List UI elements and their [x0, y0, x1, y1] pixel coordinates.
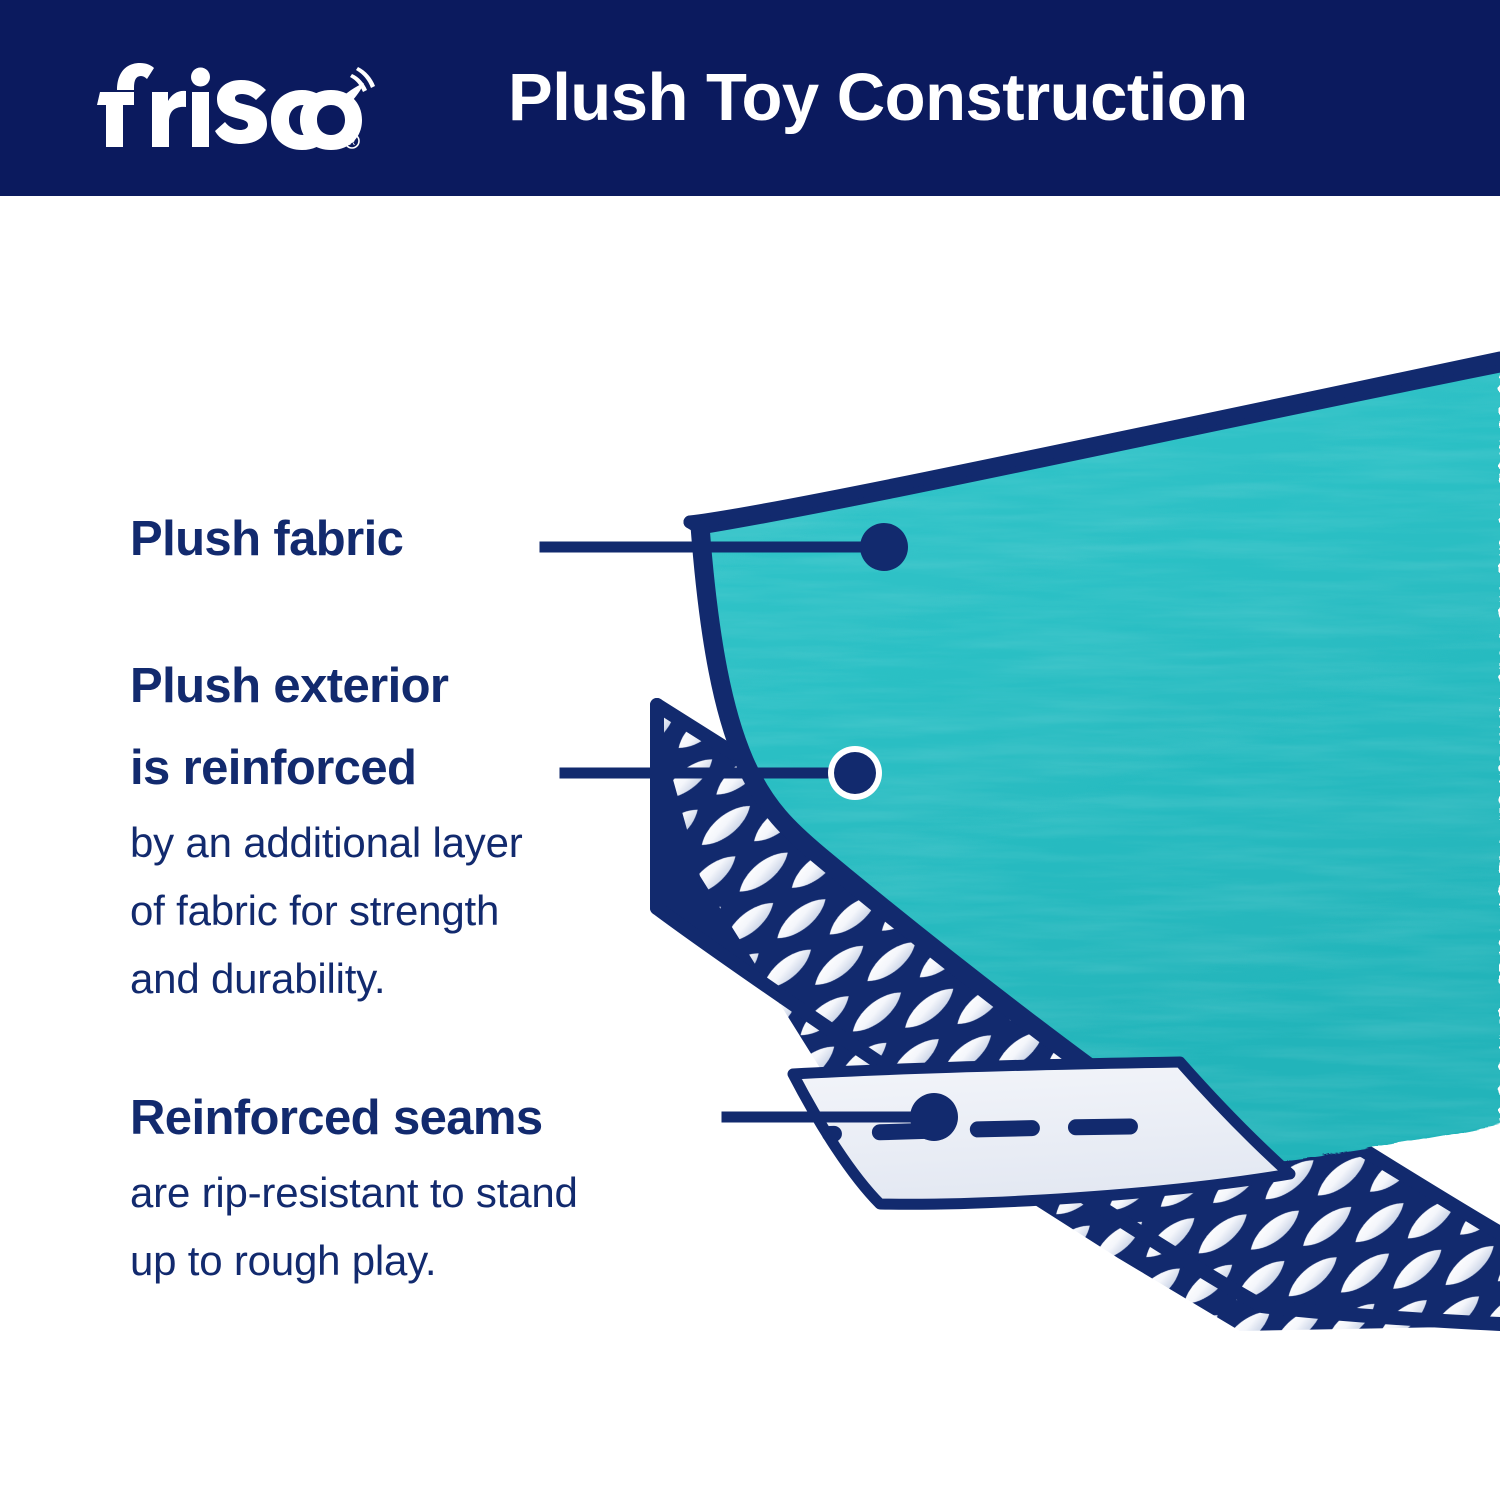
callout-reinforced-seams: Reinforced seams are rip-resistant to st…: [130, 1077, 578, 1295]
callout-reinforced-seams-headline: Reinforced seams: [130, 1077, 578, 1159]
callout-plush-exterior-headline: Plush exterior is reinforced: [130, 645, 523, 809]
callout-plush-exterior-body: by an additional layer of fabric for str…: [130, 809, 523, 1013]
callout-reinforced-seams-body: are rip-resistant to stand up to rough p…: [130, 1159, 578, 1295]
callout-plush-exterior: Plush exterior is reinforced by an addit…: [130, 645, 523, 1013]
frisco-logo: R: [86, 46, 386, 150]
header-bar: R Plush Toy Construction: [0, 0, 1500, 196]
svg-text:R: R: [349, 137, 356, 147]
infographic-page: R Plush Toy Construction: [0, 0, 1500, 1500]
callout-plush-fabric: Plush fabric: [130, 498, 403, 580]
page-title: Plush Toy Construction: [508, 50, 1248, 146]
callout-plush-fabric-headline: Plush fabric: [130, 498, 403, 580]
